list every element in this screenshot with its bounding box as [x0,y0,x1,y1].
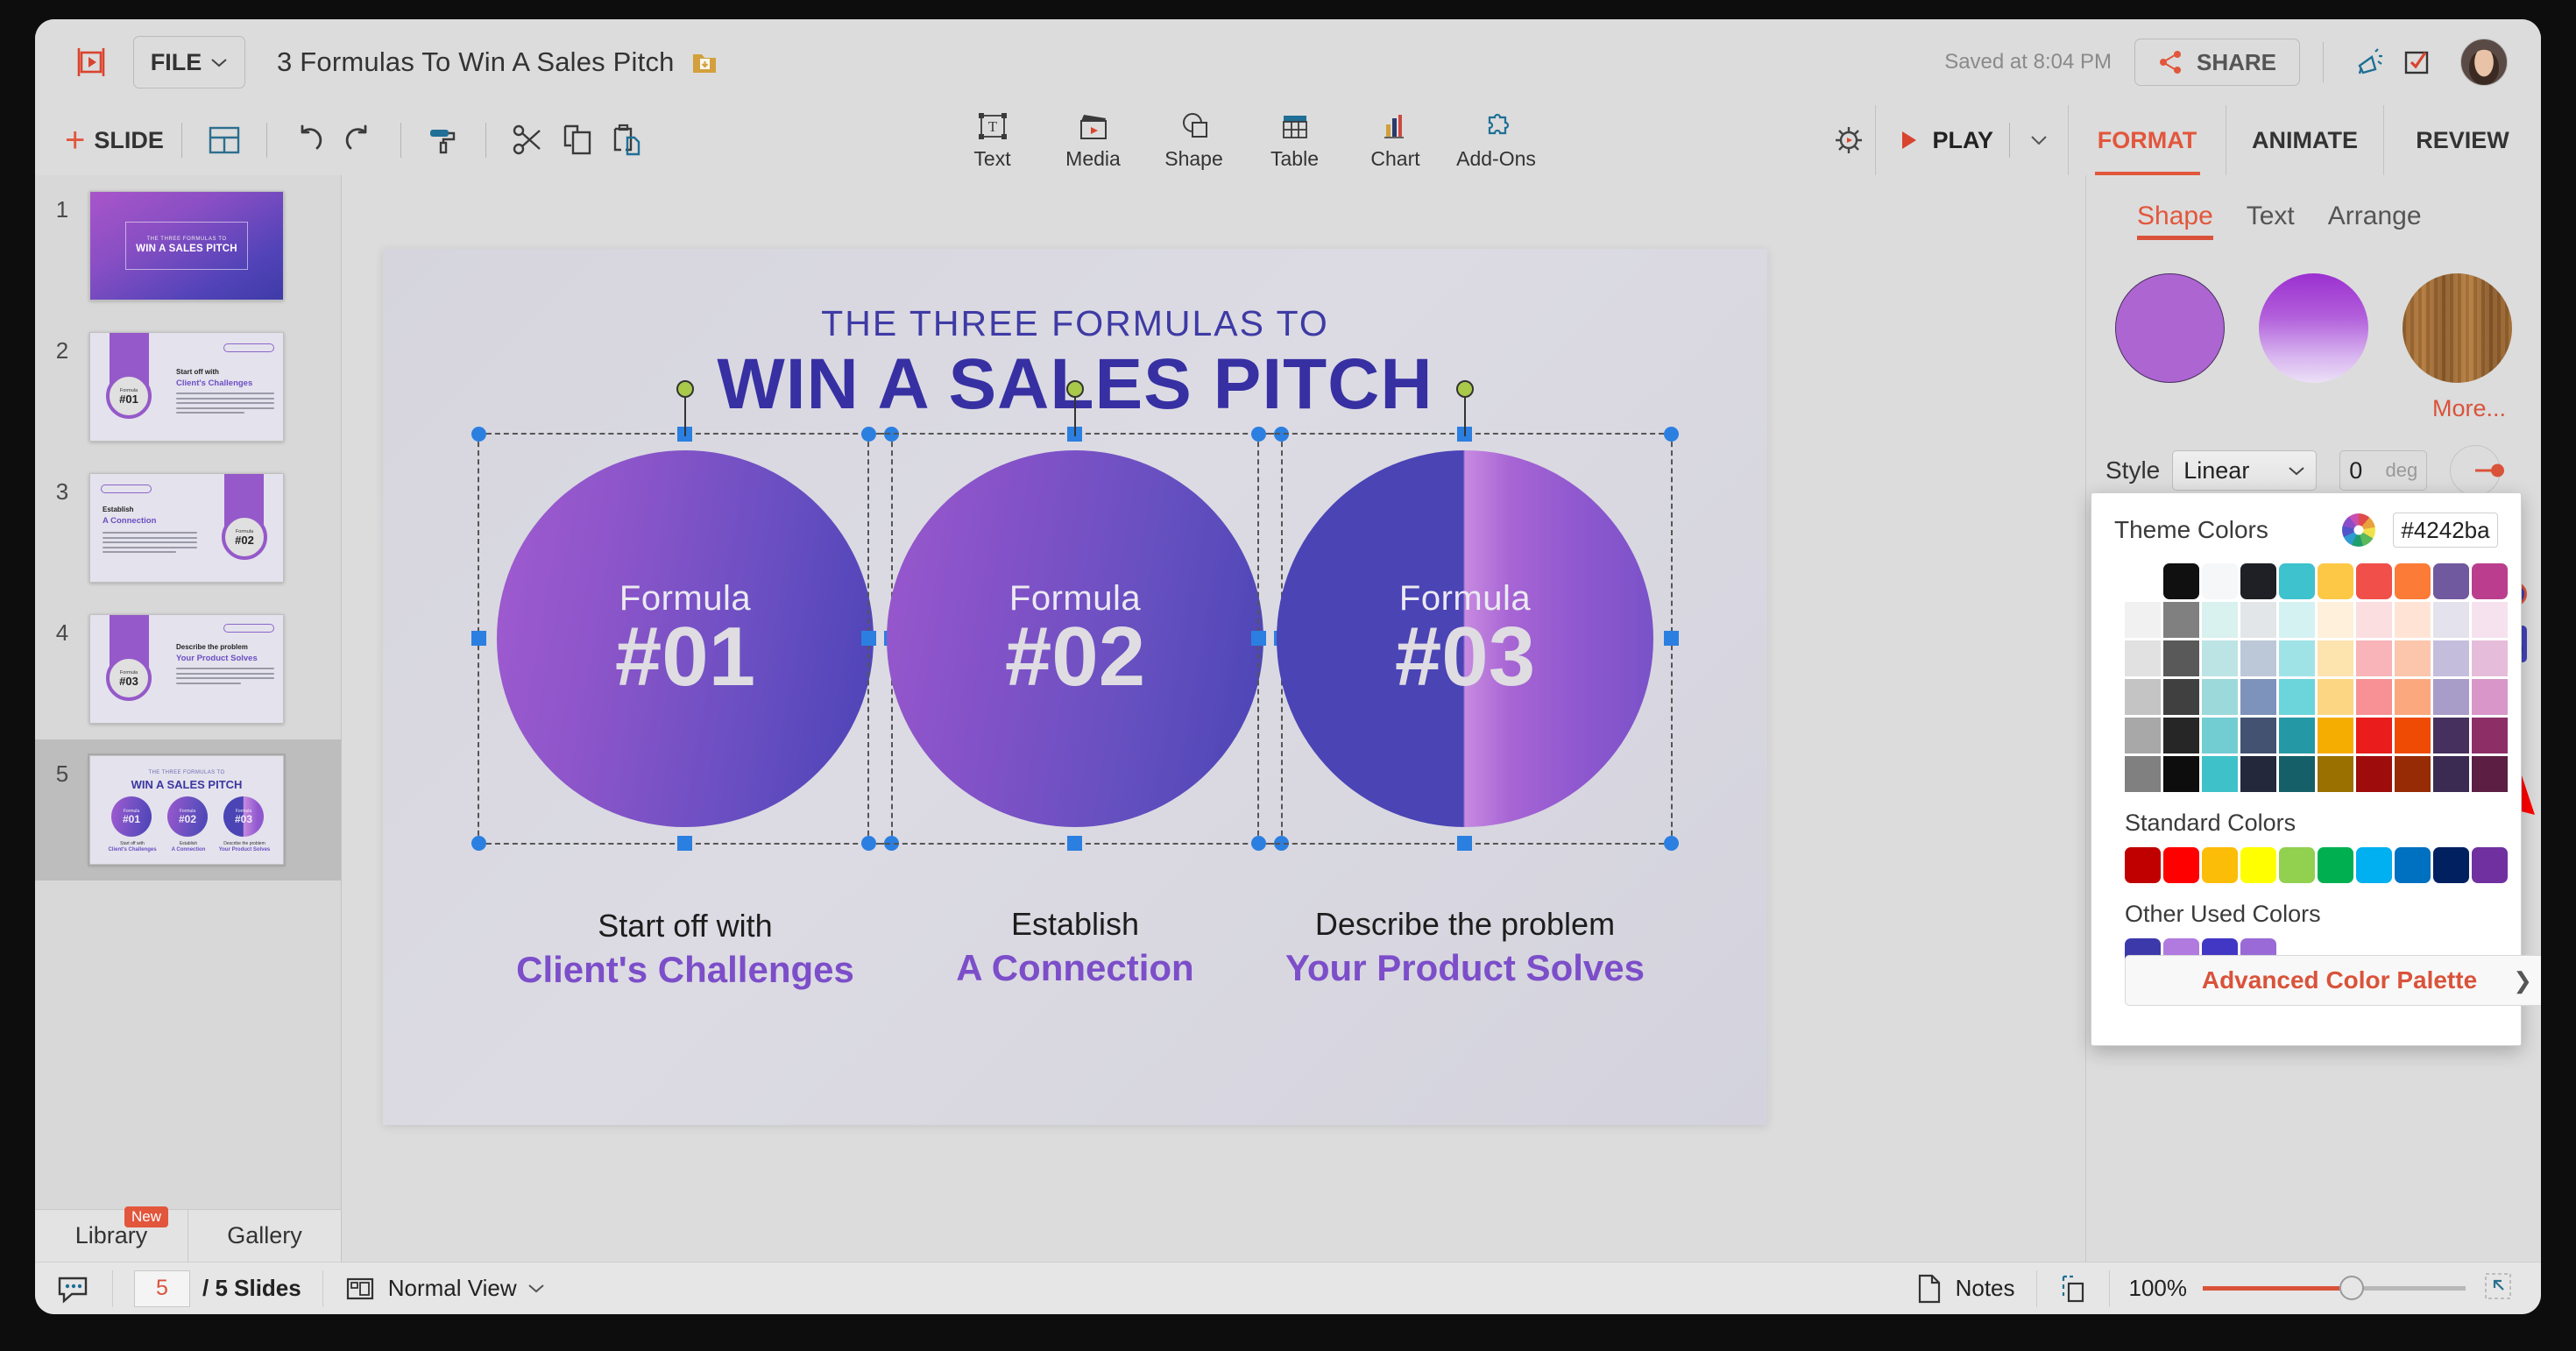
theme-swatch[interactable] [2356,756,2392,792]
theme-swatch[interactable] [2318,756,2353,792]
theme-swatch[interactable] [2125,756,2161,792]
rotate-stem [1464,396,1466,436]
notes-page-icon [1915,1273,1943,1305]
theme-swatch[interactable] [2202,718,2238,753]
add-slide-button[interactable]: + SLIDE [65,127,164,154]
theme-swatch[interactable] [2472,718,2508,753]
fill-presets-row [2086,240,2541,383]
theme-colors-header: Theme Colors #4242ba [2091,493,2521,548]
standard-swatch[interactable] [2318,847,2353,883]
thumb-caption-big-3: Your Product Solves [211,847,278,852]
theme-swatch[interactable] [2395,718,2431,753]
chevron-down-icon [2029,134,2049,146]
share-button[interactable]: SHARE [2134,39,2300,86]
format-subtabs: Shape Text Arrange [2086,175,2541,240]
thumb-body-lines [103,532,197,556]
caption-group-3[interactable]: Describe the problem Your Product Solves [1237,906,1693,989]
current-page-input[interactable]: 5 [134,1270,190,1307]
subtab-arrange[interactable]: Arrange [2328,202,2422,240]
divider [266,123,267,158]
thumb-circle: Formula #02 [222,514,267,560]
theme-swatch[interactable] [2472,640,2508,676]
resize-handle-tl[interactable] [1251,427,1266,442]
color-picker-dropdown[interactable]: Theme Colors #4242ba Standard Colors Oth… [2091,492,2522,1046]
resize-handle-br[interactable] [1664,836,1679,851]
insert-addons-button[interactable]: Add-Ons [1446,105,1546,175]
slide-thumbnail-5[interactable]: 5 THE THREE FORMULAS TO WIN A SALES PITC… [35,739,341,881]
thumb-circle-2: Formula #02 [167,796,208,837]
thumb-heading-2: A Connection [103,516,156,526]
theme-swatch[interactable] [2163,718,2199,753]
bar-chart-icon [1379,107,1412,145]
theme-swatch[interactable] [2356,602,2392,638]
caption-small: Describe the problem [1237,906,1693,943]
canvas-area[interactable]: THE THREE FORMULAS TO WIN A SALES PITCH [343,175,2085,1262]
resize-handle-left[interactable] [861,631,876,646]
theme-swatch[interactable] [2202,756,2238,792]
theme-swatch[interactable] [2472,602,2508,638]
theme-swatch[interactable] [2472,679,2508,715]
rotate-stem [1074,396,1076,436]
rotate-handle[interactable] [1456,380,1474,398]
tab-format[interactable]: FORMAT [2068,105,2226,175]
tab-gallery[interactable]: Gallery [188,1210,341,1262]
insert-chart-button[interactable]: Chart [1345,105,1446,175]
slide-layout-icon[interactable] [200,116,249,165]
divider [2009,123,2010,158]
caption-group-2[interactable]: Establish A Connection [847,906,1303,989]
text-box-icon: T [976,107,1009,145]
theme-colors-title: Theme Colors [2114,516,2268,544]
theme-swatch[interactable] [2318,602,2353,638]
style-label: Style [2105,456,2160,485]
insert-addons-label: Add-Ons [1456,147,1536,171]
rotate-stem [684,396,686,436]
subtab-shape[interactable]: Shape [2137,202,2213,240]
divider [400,123,401,158]
theme-swatch[interactable] [2163,563,2199,599]
formula-shape-1[interactable]: Formula #01 [497,450,874,827]
library-gallery-bar: New Library Gallery [35,1209,342,1262]
resize-handle-bl[interactable] [1251,836,1266,851]
thumb-heading-1: Start off with [176,368,219,376]
tab-gallery-label: Gallery [227,1222,302,1249]
fill-preset-solid[interactable] [2115,273,2225,383]
theme-swatch[interactable] [2125,679,2161,715]
slide-thumb-image[interactable]: THE THREE FORMULAS TO WIN A SALES PITCH … [89,755,284,865]
paste-icon[interactable] [602,116,651,165]
slide-number: 4 [35,614,89,647]
thumb-formula-number: #03 [235,814,252,824]
theme-swatch[interactable] [2125,640,2161,676]
thumb-pill [101,485,152,493]
insert-media-label: Media [1065,147,1121,171]
fullscreen-button[interactable] [2481,1270,2515,1307]
standard-swatch[interactable] [2279,847,2315,883]
thumb-formula-number: #03 [119,675,138,687]
user-avatar[interactable] [2460,39,2508,86]
document-title[interactable]: 3 Formulas To Win A Sales Pitch [277,46,675,78]
gradient-angle-value: 0 [2349,457,2362,485]
caption-small: Establish [847,906,1303,943]
standard-colors-title: Standard Colors [2091,792,2521,837]
hex-value-input[interactable]: #4242ba [2393,513,2498,548]
main-toolbar: + SLIDE [35,105,2541,175]
top-bar-right-group: Saved at 8:04 PM SHARE [1944,39,2541,86]
slide-number: 2 [35,332,89,364]
theme-swatch[interactable] [2125,602,2161,638]
circle-shape[interactable]: Formula #01 [497,450,874,827]
thumb-caption-small-1: Start off with [104,841,160,846]
thumb-title-frame: THE THREE FORMULAS TO WIN A SALES PITCH [125,222,249,269]
thumb-circle-1: Formula #01 [111,796,152,837]
standard-swatch[interactable] [2433,847,2469,883]
theme-swatch[interactable] [2433,602,2469,638]
slide-number: 3 [35,473,89,506]
fit-to-slide-button[interactable] [2037,1263,2109,1315]
thumb-formula-number: #01 [123,814,140,824]
subtab-text-label: Text [2247,202,2295,230]
thumb-circle-3: Formula #03 [223,796,264,837]
theme-swatch-empty [2125,563,2161,599]
caption-group-1[interactable]: Start off with Client's Challenges [457,908,913,991]
theme-swatch[interactable] [2279,756,2315,792]
theme-swatch[interactable] [2356,563,2392,599]
share-icon [2158,49,2184,75]
resize-handle-bl[interactable] [471,836,486,851]
circles-row: Formula #01 [383,450,1767,862]
format-painter-icon[interactable] [419,116,468,165]
tab-review[interactable]: REVIEW [2383,105,2541,175]
insert-text-button[interactable]: T Text [942,105,1043,175]
rotate-handle[interactable] [1066,380,1084,398]
tab-animate-label: ANIMATE [2252,127,2358,154]
tab-format-label: FORMAT [2098,127,2197,154]
resize-handle-left[interactable] [1251,631,1266,646]
gradient-angle-dial[interactable] [2450,445,2501,496]
fill-preset-texture[interactable] [2403,273,2512,383]
save-to-folder-icon[interactable] [690,48,718,76]
shape-icon [1178,107,1211,145]
thumb-pill [223,343,274,352]
slide-canvas[interactable]: THE THREE FORMULAS TO WIN A SALES PITCH [383,249,1767,1125]
thumb-pill [223,624,274,633]
comments-button[interactable] [35,1263,112,1315]
status-bar: 5 / 5 Slides Normal View Notes [35,1262,2541,1314]
divider [2323,42,2324,82]
insert-shape-label: Shape [1164,147,1223,171]
theme-swatch[interactable] [2472,563,2508,599]
theme-swatch[interactable] [2318,718,2353,753]
theme-swatch[interactable] [2279,602,2315,638]
view-mode-label: Normal View [388,1275,517,1302]
theme-swatch[interactable] [2202,563,2238,599]
thumb-formula-number: #01 [119,393,138,405]
theme-swatch[interactable] [2395,640,2431,676]
theme-swatch[interactable] [2318,679,2353,715]
gradient-angle-unit: deg [2386,459,2418,482]
play-button[interactable]: PLAY [1875,105,2068,175]
thumb-subtitle: THE THREE FORMULAS TO [146,237,226,242]
formula-number: #02 [1005,615,1145,699]
theme-swatch[interactable] [2433,718,2469,753]
thumb-subtitle: THE THREE FORMULAS TO [90,770,283,775]
standard-swatch[interactable] [2472,847,2508,883]
zoom-controls: Notes 100% [1894,1263,2541,1315]
add-slide-label: SLIDE [94,127,164,154]
normal-view-icon [344,1273,376,1305]
subtab-text[interactable]: Text [2247,202,2295,240]
thumb-heading-1: Establish [103,506,134,513]
thumb-title: WIN A SALES PITCH [90,778,283,791]
theme-swatch[interactable] [2202,679,2238,715]
undo-icon[interactable] [285,116,334,165]
view-mode-selector[interactable]: Normal View [323,1263,566,1315]
chevron-right-icon: ❯ [2513,967,2532,994]
thumb-body-lines [176,668,274,687]
fit-slide-icon [2058,1273,2088,1305]
insert-media-button[interactable]: Media [1043,105,1143,175]
redo-icon[interactable] [334,116,383,165]
theme-swatch[interactable] [2163,756,2199,792]
resize-handle-left[interactable] [471,631,486,646]
notes-label: Notes [1956,1275,2015,1302]
caption-small: Start off with [457,908,913,944]
theme-swatch[interactable] [2395,679,2431,715]
theme-swatch[interactable] [2279,640,2315,676]
resize-handle-bottom[interactable] [677,836,692,851]
slide-thumb-image[interactable]: THE THREE FORMULAS TO WIN A SALES PITCH [89,191,284,301]
zoom-slider-knob[interactable] [2339,1276,2364,1300]
theme-swatch[interactable] [2240,640,2276,676]
svg-text:T: T [987,118,997,135]
divider [181,123,182,158]
chevron-down-icon [2288,465,2305,477]
resize-handle-tr[interactable] [1664,427,1679,442]
slide-number: 1 [35,191,89,223]
top-bar: FILE 3 Formulas To Win A Sales Pitch Sav… [35,19,2541,105]
resize-handle-tl[interactable] [471,427,486,442]
color-wheel-icon[interactable] [2342,513,2375,547]
notes-button[interactable]: Notes [1894,1263,2036,1315]
standard-swatch[interactable] [2125,847,2161,883]
theme-swatch[interactable] [2356,640,2392,676]
theme-swatch[interactable] [2163,679,2199,715]
thumb-caption-small-2: Establish [160,841,216,846]
slide-thumbnail-4[interactable]: 4 Formula #03 Describe the problem Your … [35,598,341,739]
thumb-title: WIN A SALES PITCH [136,244,237,254]
standard-swatch[interactable] [2356,847,2392,883]
subtab-arrange-label: Arrange [2328,202,2422,230]
theme-swatch[interactable] [2163,602,2199,638]
puzzle-piece-icon [1480,107,1513,145]
theme-swatch[interactable] [2240,756,2276,792]
formula-number: #03 [1395,615,1535,699]
toolbar-right-group: PLAY FORMAT ANIMATE REVIEW [1822,105,2541,175]
presentation-app-window: FILE 3 Formulas To Win A Sales Pitch Sav… [35,19,2541,1314]
thumb-heading-2: Your Product Solves [176,654,258,663]
formula-number: #01 [615,615,755,699]
theme-swatch[interactable] [2433,640,2469,676]
plus-icon: + [65,128,85,152]
theme-swatch[interactable] [2240,563,2276,599]
cut-scissors-icon[interactable] [504,116,553,165]
file-menu-button[interactable]: FILE [133,36,245,88]
gear-icon[interactable] [1822,114,1875,166]
theme-swatch[interactable] [2240,679,2276,715]
standard-swatch[interactable] [2240,847,2276,883]
standard-colors-row[interactable] [2091,837,2521,883]
thumb-formula-number: #02 [179,814,196,824]
table-icon [1278,107,1312,145]
theme-swatch[interactable] [2202,602,2238,638]
tab-animate[interactable]: ANIMATE [2226,105,2383,175]
play-label: PLAY [1932,127,1993,154]
caption-big: Client's Challenges [457,949,913,991]
caption-big: Your Product Solves [1237,947,1693,989]
gradient-angle-input[interactable]: 0 deg [2339,450,2427,491]
formula-shape-2[interactable]: Formula #02 [887,450,1263,827]
slide-thumb-image[interactable]: Formula #01 Start off with Client's Chal… [89,332,284,442]
advanced-color-palette-label: Advanced Color Palette [2202,966,2477,994]
theme-swatch[interactable] [2433,679,2469,715]
subtab-shape-label: Shape [2137,202,2213,230]
theme-swatch[interactable] [2395,602,2431,638]
circle-shape[interactable]: Formula #02 [887,450,1263,827]
formula-shape-3[interactable]: Formula #03 [1277,450,1653,827]
thumb-body-lines [176,393,274,417]
slide-thumbnail-1[interactable]: 1 THE THREE FORMULAS TO WIN A SALES PITC… [35,175,341,316]
page-indicator: 5 / 5 Slides [113,1263,322,1315]
insert-chart-label: Chart [1370,147,1419,171]
thumb-caption-small-3: Describe the problem [216,841,272,846]
circle-shape[interactable]: Formula #03 [1277,450,1653,827]
resize-handle-bottom[interactable] [1457,836,1472,851]
slide-thumbnail-panel[interactable]: 1 THE THREE FORMULAS TO WIN A SALES PITC… [35,175,342,1209]
total-slides-label: / 5 Slides [202,1275,301,1302]
standard-swatch[interactable] [2163,847,2199,883]
divider [485,123,486,158]
thumb-formula-number: #02 [235,534,254,546]
saved-status: Saved at 8:04 PM [1944,50,2112,74]
theme-swatch[interactable] [2202,640,2238,676]
gradient-style-row: Style Linear 0 deg [2086,422,2541,496]
theme-swatch[interactable] [2279,563,2315,599]
thumb-heading-2: Client's Challenges [176,378,252,388]
insert-table-button[interactable]: Table [1244,105,1345,175]
resize-handle-bottom[interactable] [1067,836,1082,851]
theme-swatch[interactable] [2395,563,2431,599]
theme-swatch[interactable] [2395,756,2431,792]
other-used-colors-title: Other Used Colors [2091,883,2521,928]
chevron-down-icon [210,57,228,68]
insert-shape-button[interactable]: Shape [1143,105,1244,175]
theme-swatch[interactable] [2472,756,2508,792]
gradient-style-value: Linear [2183,457,2249,485]
gradient-style-select[interactable]: Linear [2172,450,2317,491]
theme-swatch[interactable] [2240,718,2276,753]
slide-thumbnail-3[interactable]: 3 Formula #02 Establish A Connection [35,457,341,598]
resize-handle-right[interactable] [1664,631,1679,646]
ribbon-tabs: FORMAT ANIMATE REVIEW [2068,105,2541,175]
expand-icon [2481,1270,2515,1303]
fill-preset-gradient[interactable] [2259,273,2368,383]
theme-swatch[interactable] [2318,563,2353,599]
play-triangle-icon [1899,129,1920,152]
zoom-level-label: 100% [2129,1275,2188,1302]
comment-bubble-icon [56,1271,91,1306]
caption-big: A Connection [847,947,1303,989]
more-fills-link[interactable]: More... [2086,383,2541,422]
slide-subtitle[interactable]: THE THREE FORMULAS TO [383,303,1767,344]
thumb-circle: Formula #03 [106,655,152,701]
rotate-handle[interactable] [676,380,694,398]
theme-swatch[interactable] [2279,718,2315,753]
theme-swatch[interactable] [2433,563,2469,599]
file-menu-label: FILE [151,49,202,76]
theme-swatch[interactable] [2356,718,2392,753]
insert-table-label: Table [1270,147,1319,171]
tab-library[interactable]: New Library [35,1210,188,1262]
theme-swatch[interactable] [2125,718,2161,753]
theme-colors-grid[interactable] [2091,548,2521,792]
tab-review-label: REVIEW [2416,127,2509,154]
thumb-circle: Formula #01 [106,373,152,419]
resize-handle-tl[interactable] [861,427,876,442]
theme-swatch[interactable] [2433,756,2469,792]
edit-note-icon[interactable] [2394,39,2441,86]
standard-swatch[interactable] [2202,847,2238,883]
insert-tools-group: T Text Media [942,105,1546,175]
theme-swatch[interactable] [2356,679,2392,715]
new-badge: New [124,1206,168,1227]
resize-handle-bl[interactable] [861,836,876,851]
theme-swatch[interactable] [2279,679,2315,715]
theme-swatch[interactable] [2318,640,2353,676]
announcements-megaphone-icon[interactable] [2346,39,2394,86]
theme-swatch[interactable] [2163,640,2199,676]
slide-thumb-image[interactable]: Formula #02 Establish A Connection [89,473,284,583]
slide-thumbnail-2[interactable]: 2 Formula #01 Start off with Client's Ch… [35,316,341,457]
app-logo-icon[interactable] [68,40,114,84]
zoom-slider[interactable] [2203,1286,2466,1291]
copy-icon[interactable] [553,116,602,165]
slide-number: 5 [35,755,89,788]
insert-text-label: Text [973,147,1010,171]
zoom-slider-fill [2203,1286,2339,1291]
slide-thumb-image[interactable]: Formula #03 Describe the problem Your Pr… [89,614,284,724]
thumb-heading-1: Describe the problem [176,643,248,651]
divider [2109,1270,2110,1307]
clapperboard-icon [1077,107,1110,145]
chevron-down-icon [527,1283,545,1294]
share-label: SHARE [2197,49,2276,76]
dial-knob[interactable] [2491,464,2504,477]
standard-swatch[interactable] [2395,847,2431,883]
advanced-color-palette-button[interactable]: Advanced Color Palette ❯ [2125,955,2541,1006]
theme-swatch[interactable] [2240,602,2276,638]
